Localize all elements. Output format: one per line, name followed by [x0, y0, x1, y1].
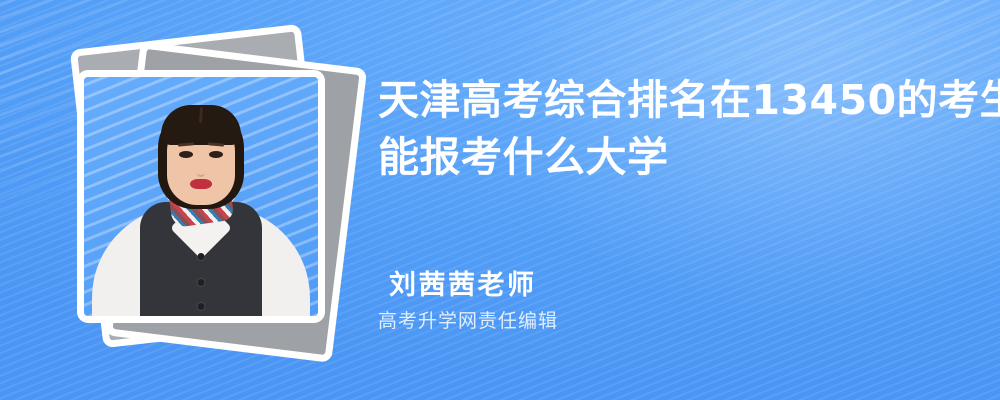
page-title-line-1: 天津高考综合排名在13450的考生 [378, 72, 958, 129]
author-name: 刘茜茜老师 [378, 268, 938, 304]
portrait-vest-button [198, 253, 205, 260]
portrait-nose [197, 165, 205, 177]
portrait-eye-left [179, 151, 193, 158]
photo-card-stack [48, 28, 368, 364]
article-header-banner: 天津高考综合排名在13450的考生 能报考什么大学 刘茜茜老师 高考升学网责任编… [0, 0, 1000, 400]
author-role: 高考升学网责任编辑 [378, 304, 938, 336]
author-portrait-image [84, 77, 318, 316]
portrait-eye-right [209, 151, 223, 158]
author-photo-frame [77, 70, 325, 323]
author-byline: 刘茜茜老师 高考升学网责任编辑 [378, 268, 938, 336]
portrait-vest-button [198, 303, 205, 310]
portrait-lips [190, 179, 212, 189]
page-title-line-2: 能报考什么大学 [378, 129, 958, 186]
portrait-vest-button [198, 279, 205, 286]
page-title: 天津高考综合排名在13450的考生 能报考什么大学 [378, 72, 958, 186]
